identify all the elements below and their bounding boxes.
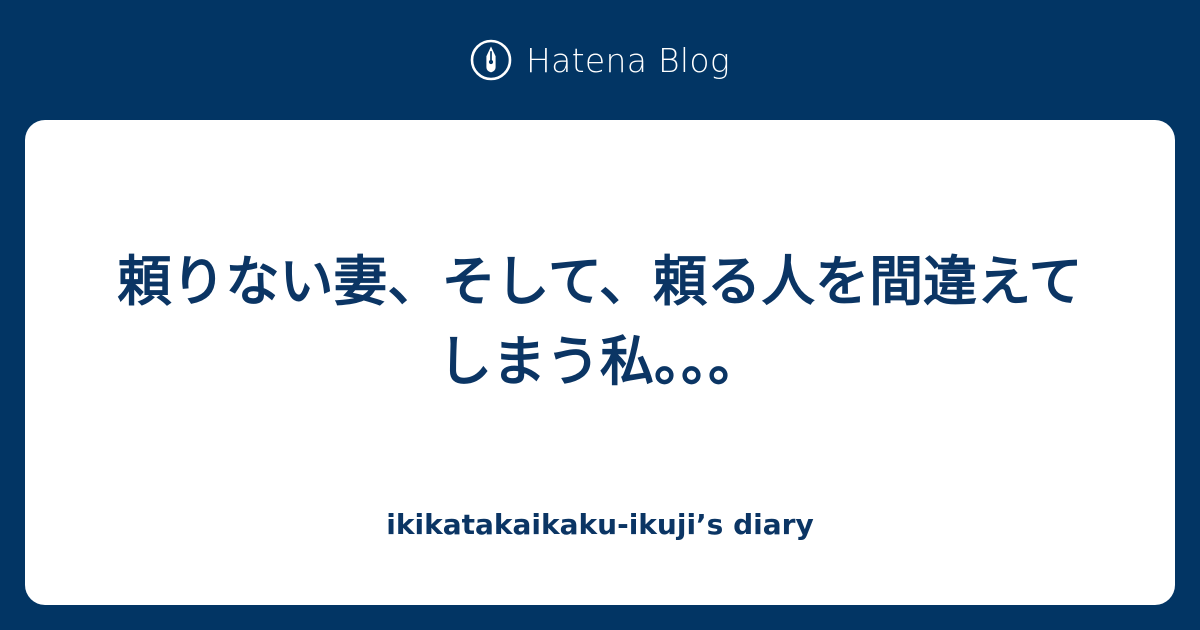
brand-header: Hatena Blog (0, 0, 1200, 120)
hatena-pen-nib-icon (470, 39, 512, 81)
brand-name-label: Hatena Blog (526, 44, 730, 77)
ogp-share-card: Hatena Blog 頼りない妻、そして、頼る人を間違えてしまう私。。。 ik… (0, 0, 1200, 630)
blog-title: ikikatakaikaku-ikuji’s diary (25, 508, 1175, 542)
content-card: 頼りない妻、そして、頼る人を間違えてしまう私。。。 ikikatakaikaku… (25, 120, 1175, 605)
entry-title: 頼りない妻、そして、頼る人を間違えてしまう私。。。 (95, 242, 1105, 402)
